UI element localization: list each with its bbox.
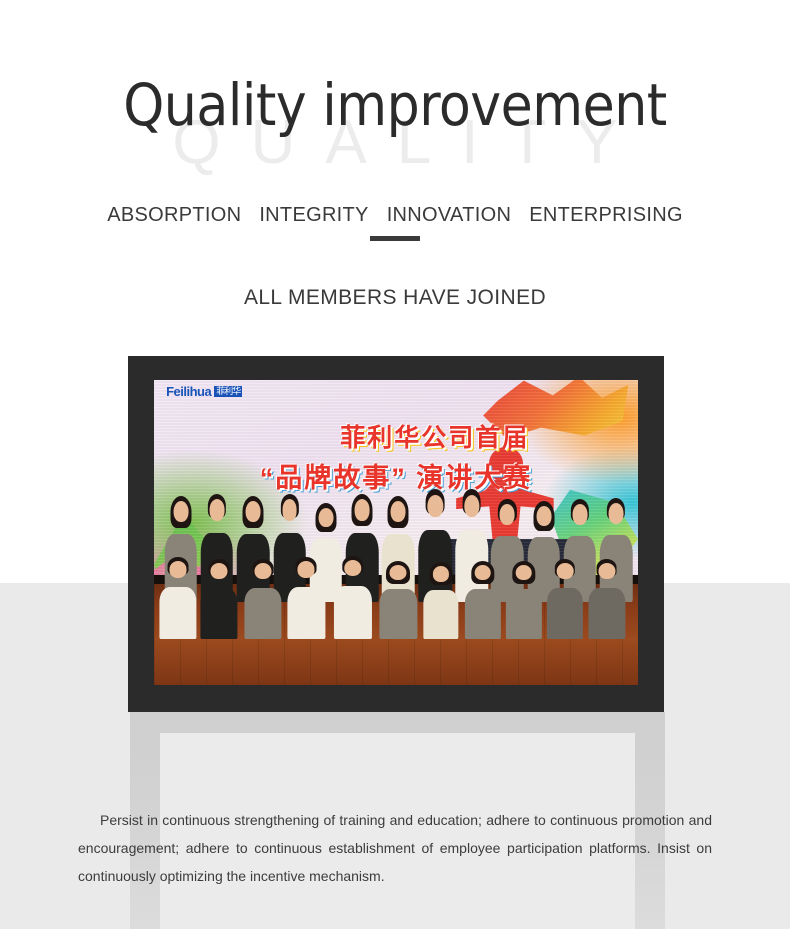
person-head bbox=[173, 501, 188, 522]
person-head bbox=[598, 563, 615, 579]
section-subtitle: ALL MEMBERS HAVE JOINED bbox=[0, 286, 790, 310]
person-head bbox=[209, 499, 224, 521]
person-head bbox=[298, 561, 315, 577]
person-torso bbox=[465, 589, 501, 639]
nav-active-underline bbox=[370, 236, 420, 241]
photo-person bbox=[244, 559, 283, 639]
person-head bbox=[464, 495, 479, 518]
person-torso bbox=[380, 589, 417, 639]
photo-person bbox=[587, 559, 626, 639]
section-nav: ABSORPTION INTEGRITY INNOVATION ENTERPRI… bbox=[0, 204, 790, 227]
person-head bbox=[344, 560, 361, 577]
photo-person bbox=[464, 561, 502, 640]
company-logo-cn: 菲利华 bbox=[214, 386, 242, 397]
group-photo-people bbox=[154, 468, 638, 639]
person-head bbox=[572, 504, 587, 524]
person-torso bbox=[244, 588, 281, 639]
person-head bbox=[254, 563, 271, 579]
company-logo: Feilihua 菲利华 bbox=[166, 385, 242, 398]
nav-item-absorption[interactable]: ABSORPTION bbox=[98, 204, 250, 227]
person-head bbox=[391, 501, 406, 522]
person-head bbox=[428, 495, 443, 518]
person-torso bbox=[588, 588, 625, 639]
company-logo-text: Feilihua bbox=[166, 385, 211, 398]
person-head bbox=[282, 499, 297, 521]
person-head bbox=[355, 499, 370, 521]
photo-person bbox=[423, 562, 460, 639]
person-torso bbox=[160, 587, 197, 639]
photo-person bbox=[287, 557, 326, 639]
person-head bbox=[500, 504, 515, 524]
person-head bbox=[515, 565, 532, 581]
photo-person bbox=[333, 556, 373, 640]
person-torso bbox=[288, 587, 325, 639]
person-head bbox=[474, 565, 491, 581]
photo-person bbox=[546, 559, 584, 639]
person-torso bbox=[201, 588, 238, 639]
person-torso bbox=[547, 588, 583, 639]
photo-person bbox=[159, 557, 198, 639]
group-photo: Feilihua 菲利华 菲利华公司首届 “品牌故事” 演讲大赛 bbox=[154, 380, 638, 685]
person-head bbox=[609, 503, 624, 524]
person-head bbox=[433, 566, 449, 581]
photo-person bbox=[379, 561, 418, 640]
nav-item-innovation[interactable]: INNOVATION bbox=[378, 204, 520, 227]
person-head bbox=[557, 563, 574, 579]
person-head bbox=[390, 565, 407, 581]
person-torso bbox=[506, 589, 542, 639]
photo-person bbox=[200, 559, 239, 639]
nav-item-integrity[interactable]: INTEGRITY bbox=[250, 204, 377, 227]
person-head bbox=[170, 561, 187, 577]
person-head bbox=[318, 508, 333, 528]
photo-person bbox=[505, 561, 543, 640]
description-paragraph: Persist in continuous strengthening of t… bbox=[78, 806, 712, 890]
person-head bbox=[211, 563, 228, 579]
nav-item-enterprising[interactable]: ENTERPRISING bbox=[520, 204, 692, 227]
person-head bbox=[536, 506, 551, 526]
person-torso bbox=[334, 586, 372, 640]
stage-banner-line-1: 菲利华公司首届 bbox=[154, 426, 638, 451]
person-torso bbox=[423, 590, 458, 639]
page-title: Quality improvement bbox=[0, 74, 790, 138]
person-head bbox=[246, 501, 261, 522]
